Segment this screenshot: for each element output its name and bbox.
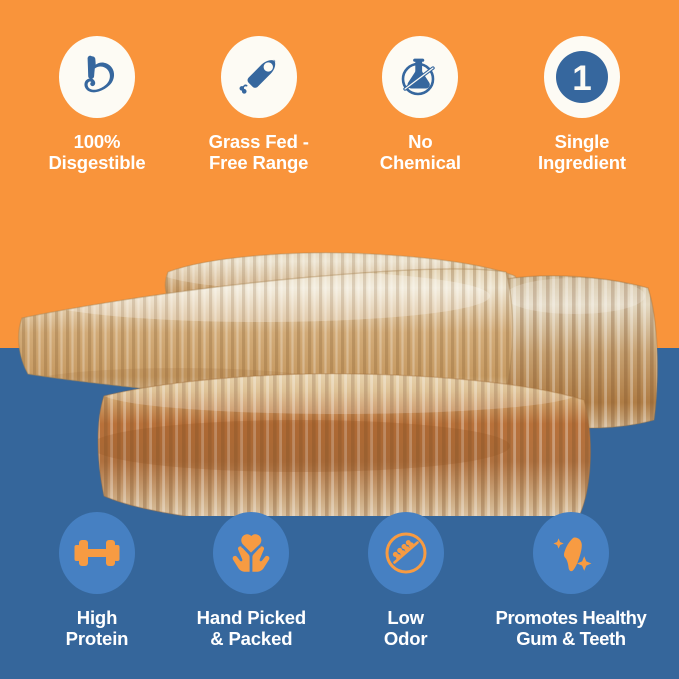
product-infographic: 100% Disgestible Grass Fed - Free Range (0, 0, 679, 679)
top-feature-row: 100% Disgestible Grass Fed - Free Range (0, 36, 679, 173)
feature-label: Low Odor (384, 607, 428, 649)
feature-100-percent-digestible: 100% Disgestible (22, 36, 172, 173)
feature-single-ingredient: 1 Single Ingredient (507, 36, 657, 173)
feature-label: No Chemical (380, 131, 461, 173)
no-chemical-flask-icon (382, 36, 458, 118)
feature-label: Single Ingredient (538, 131, 626, 173)
number-one-icon: 1 (544, 36, 620, 118)
tooth-sparkle-icon (533, 512, 609, 594)
beef-trachea-chews-photo (0, 196, 679, 516)
stomach-icon (59, 36, 135, 118)
feature-label: Promotes Healthy Gum & Teeth (496, 607, 647, 649)
feature-label: Hand Picked & Packed (197, 607, 306, 649)
svg-text:1: 1 (572, 59, 591, 98)
feature-high-protein: High Protein (22, 512, 172, 649)
feature-grass-fed-free-range: Grass Fed - Free Range (184, 36, 334, 173)
feature-no-chemical: No Chemical (345, 36, 495, 173)
feature-label: 100% Disgestible (48, 131, 145, 173)
feature-hand-picked-packed: Hand Picked & Packed (176, 512, 326, 649)
hands-heart-icon (213, 512, 289, 594)
dumbbell-icon (59, 512, 135, 594)
feature-low-odor: Low Odor (331, 512, 481, 649)
bottom-feature-row: High Protein Hand Picked & Packed (0, 512, 679, 649)
ham-meat-icon (221, 36, 297, 118)
feature-label: High Protein (66, 607, 129, 649)
no-grain-wheat-icon (368, 512, 444, 594)
feature-promotes-healthy-gum-teeth: Promotes Healthy Gum & Teeth (485, 512, 657, 649)
feature-label: Grass Fed - Free Range (209, 131, 309, 173)
